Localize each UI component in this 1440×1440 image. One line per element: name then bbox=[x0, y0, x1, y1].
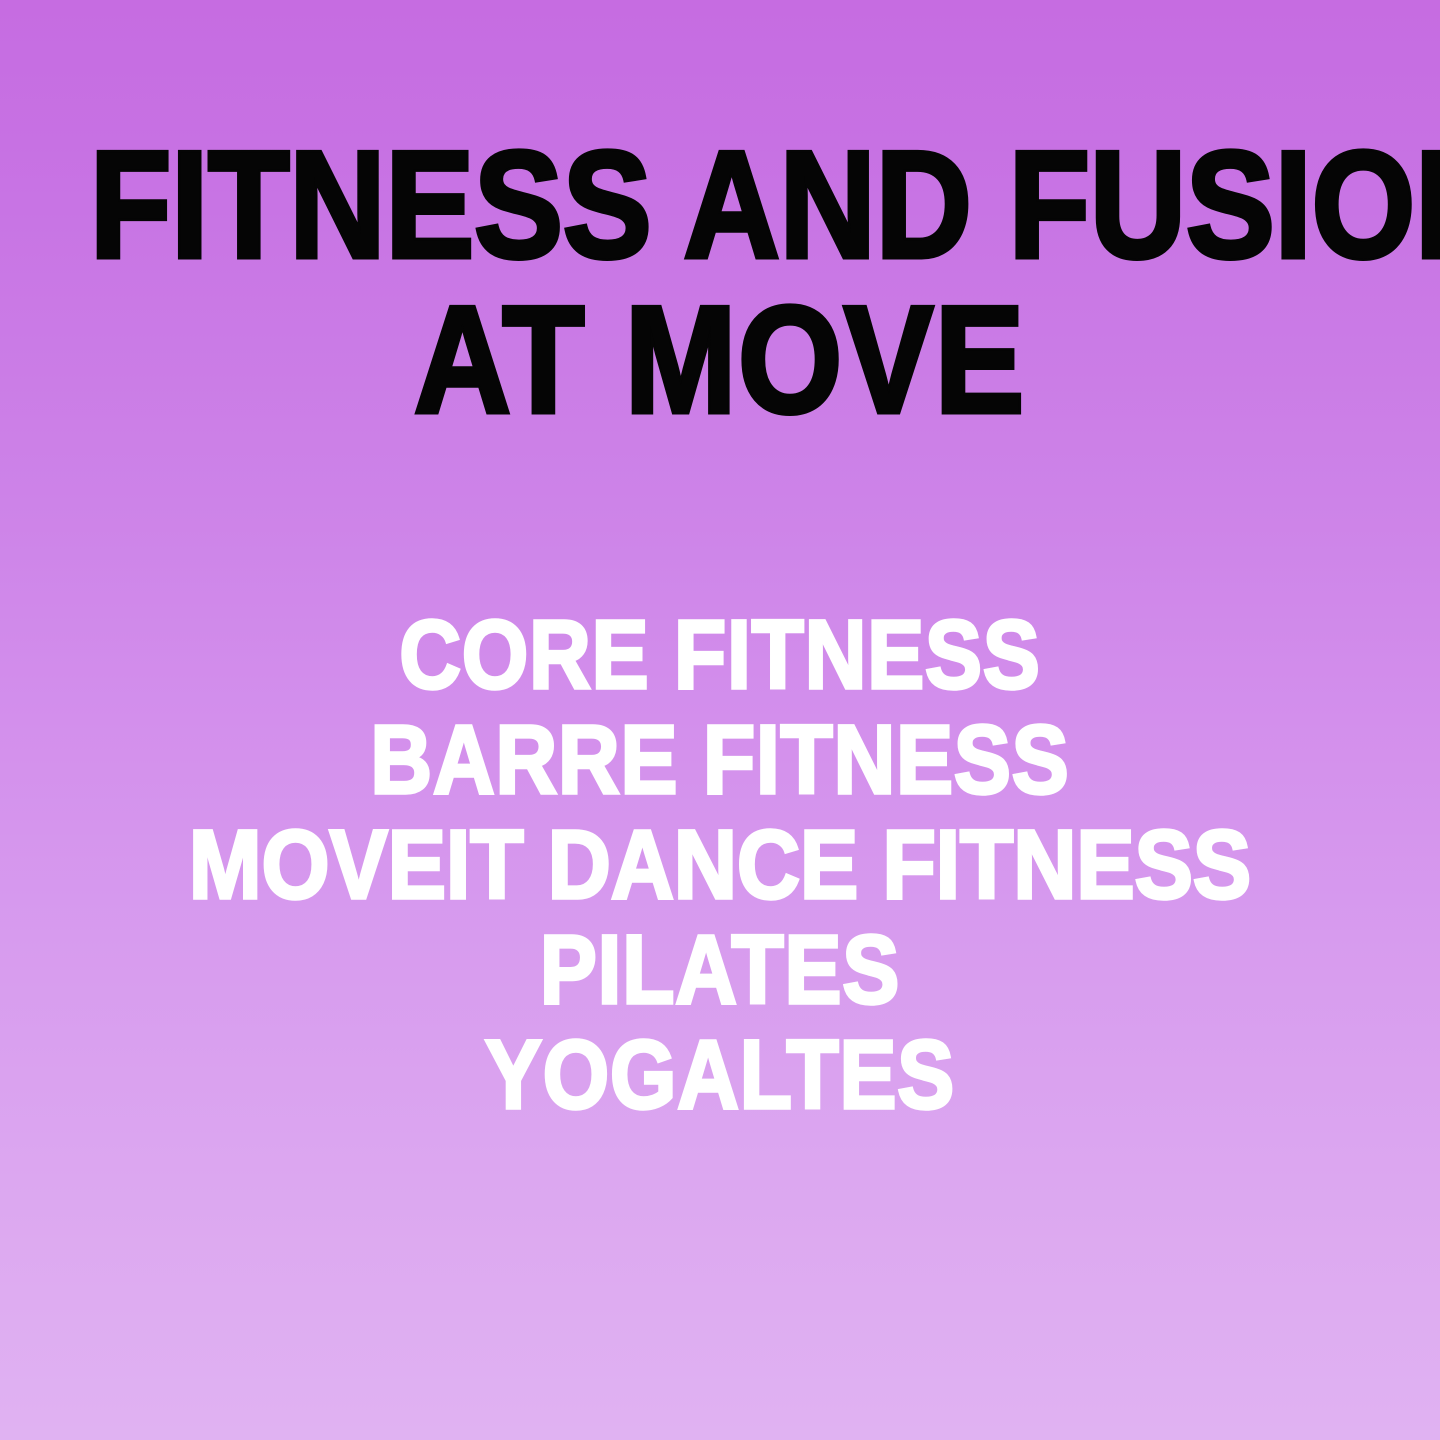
class-list-item-core-fitness: CORE FITNESS bbox=[86, 602, 1353, 707]
class-list: CORE FITNESS BARRE FITNESS MOVEIT DANCE … bbox=[0, 602, 1440, 1127]
class-list-item-yogaltes: YOGALTES bbox=[86, 1022, 1353, 1127]
headline-line-2: AT MOVE bbox=[86, 283, 1353, 438]
class-list-item-barre-fitness: BARRE FITNESS bbox=[86, 707, 1353, 812]
promo-poster: FITNESS AND FUSION AT MOVE CORE FITNESS … bbox=[0, 0, 1440, 1440]
poster-headline: FITNESS AND FUSION AT MOVE bbox=[0, 128, 1440, 438]
class-list-item-moveit-dance-fitness: MOVEIT DANCE FITNESS bbox=[72, 812, 1368, 917]
headline-line-1: FITNESS AND FUSION bbox=[90, 128, 1350, 283]
class-list-item-pilates: PILATES bbox=[86, 917, 1353, 1022]
